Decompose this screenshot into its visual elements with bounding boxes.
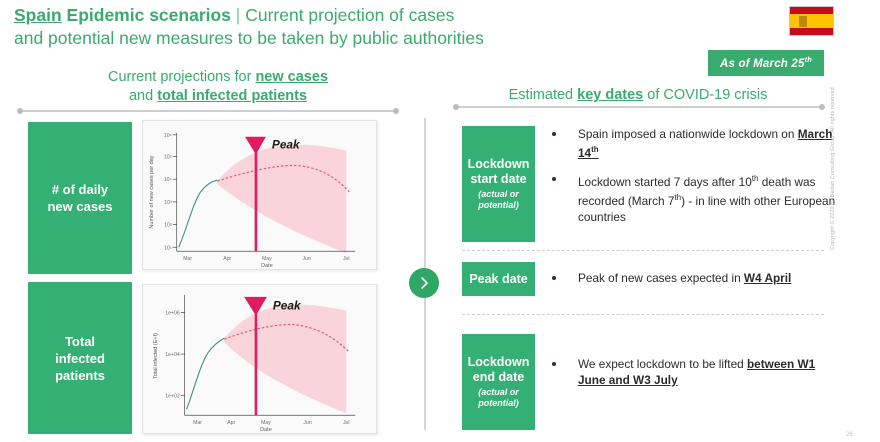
svg-text:10⁵: 10⁵ [164,155,172,161]
right-heading-divider [456,106,822,108]
slide: Spain Epidemic scenarios | Current proje… [0,0,880,442]
spain-flag-icon [789,6,834,36]
svg-text:1e+06: 1e+06 [165,311,180,317]
chart-2-xlabel: Date [260,427,272,433]
bullet-text-0-0-a: Spain imposed a nationwide lockdown on [578,127,798,141]
chip-peak-date: Peak date [462,262,535,296]
bullet-text-2-0-a: We expect lockdown to be lifted [578,357,747,371]
chart-2-ylabel: Total infected (E+I) [153,333,159,379]
bullet-text-1-0-a: Peak of new cases expected in [578,271,744,285]
svg-text:May: May [261,420,271,426]
list-item: Lockdown started 7 days after 10th death… [550,171,845,225]
chip-lockdown-end-title: Lockdown end date [468,355,530,385]
chip-lockdown-start-date: Lockdown start date (actual or potential… [462,126,535,242]
right-heading-post: of COVID-19 crisis [643,87,767,103]
svg-text:May: May [262,256,272,262]
chart-2-peak-label: Peak [273,299,302,313]
chip-peak-date-title: Peak date [469,272,527,287]
svg-text:Jun: Jun [303,420,311,426]
chart-1-ylabel: Number of new cases per day [149,155,155,228]
right-section-heading: Estimated key dates of COVID-19 crisis [444,86,832,105]
chip-lockdown-start-subtitle: (actual or potential) [478,189,519,211]
title-line-1: Spain Epidemic scenarios | Current proje… [14,4,614,27]
coat-of-arms-icon [799,16,807,27]
right-heading-emph: key dates [577,87,643,103]
svg-text:10¹: 10¹ [164,245,172,251]
list-item: We expect lockdown to be lifted between … [550,356,845,388]
svg-text:10³: 10³ [164,200,172,206]
chip-lockdown-end-subtitle: (actual or potential) [478,387,519,409]
as-of-date-badge: As of March 25th [708,50,824,76]
right-heading-line: Estimated key dates of COVID-19 crisis [444,86,832,105]
title-separator: | [236,5,241,25]
chip-lockdown-start-title: Lockdown start date [468,157,530,187]
title-rest: Current projection of cases [245,5,454,25]
left-heading-emph-2: total infected patients [157,88,307,104]
svg-text:10²: 10² [164,223,172,229]
svg-text:Mar: Mar [193,420,202,426]
chart-1-peak-label: Peak [272,138,301,152]
right-heading-pre: Estimated [509,87,578,103]
bullets-lockdown-start: Spain imposed a nationwide lockdown on M… [550,126,845,225]
left-heading-pre-2: and [129,88,157,104]
svg-text:Jun: Jun [302,256,310,262]
chart-daily-new-cases: Peak 10¹10²10³ 10⁴10⁵10⁶ MarApr MayJun J… [142,120,377,270]
left-heading-emph-1: new cases [255,69,328,85]
left-section-heading: Current projections for new cases and to… [18,68,418,106]
chart-2-svg: Peak 1e+021e+041e+06 MarApr MayJun Jul D… [143,285,376,433]
svg-text:1e+02: 1e+02 [165,393,180,399]
svg-text:Apr: Apr [227,420,235,426]
chart-1-svg: Peak 10¹10²10³ 10⁴10⁵10⁶ MarApr MayJun J… [143,121,376,269]
as-of-date-suffix: th [805,55,812,64]
label-box-daily-new-cases: # of daily new cases [28,122,132,274]
as-of-date-label: As of March 25 [720,58,805,70]
bullet-emph-1-0: W4 April [744,271,791,285]
svg-text:Jul: Jul [343,420,350,426]
bullets-lockdown-end: We expect lockdown to be lifted between … [550,356,845,388]
copyright-notice: Copyright © 2020 by Bertan Consulting Gr… [830,86,836,250]
list-item: Spain imposed a nationwide lockdown on M… [550,126,845,161]
bullet-text-0-1-a: Lockdown started 7 days after 10 [578,175,752,189]
page-title: Spain Epidemic scenarios | Current proje… [14,4,614,50]
chevron-right-icon[interactable] [409,268,439,298]
left-heading-pre: Current projections for [108,69,255,85]
svg-text:Jul: Jul [343,256,350,262]
left-heading-line-2: and total infected patients [18,87,418,106]
chart-total-infected: Peak 1e+021e+041e+06 MarApr MayJun Jul D… [142,284,377,434]
svg-text:10⁴: 10⁴ [164,177,172,183]
list-item: Peak of new cases expected in W4 April [550,270,845,286]
row-separator-1 [462,250,824,251]
svg-text:1e+04: 1e+04 [165,352,180,358]
bullet-sup-0-0: th [591,145,599,154]
left-heading-divider [20,110,396,112]
page-number: 26 [846,432,853,438]
bullets-peak-date: Peak of new cases expected in W4 April [550,270,845,286]
chip-lockdown-end-date: Lockdown end date (actual or potential) [462,334,535,430]
label-box-total-infected: Total infected patients [28,282,132,434]
svg-text:Mar: Mar [183,256,192,262]
title-line-2: and potential new measures to be taken b… [14,27,614,50]
left-heading-line-1: Current projections for new cases [18,68,418,87]
title-country: Spain [14,5,62,25]
label-box-total-text: Total infected patients [55,333,105,384]
label-box-daily-text: # of daily new cases [47,181,112,215]
title-subject: Epidemic scenarios [67,5,231,25]
chart-1-xlabel: Date [261,263,273,269]
row-separator-2 [462,314,824,315]
svg-text:10⁶: 10⁶ [164,133,172,139]
svg-text:Apr: Apr [223,256,231,262]
